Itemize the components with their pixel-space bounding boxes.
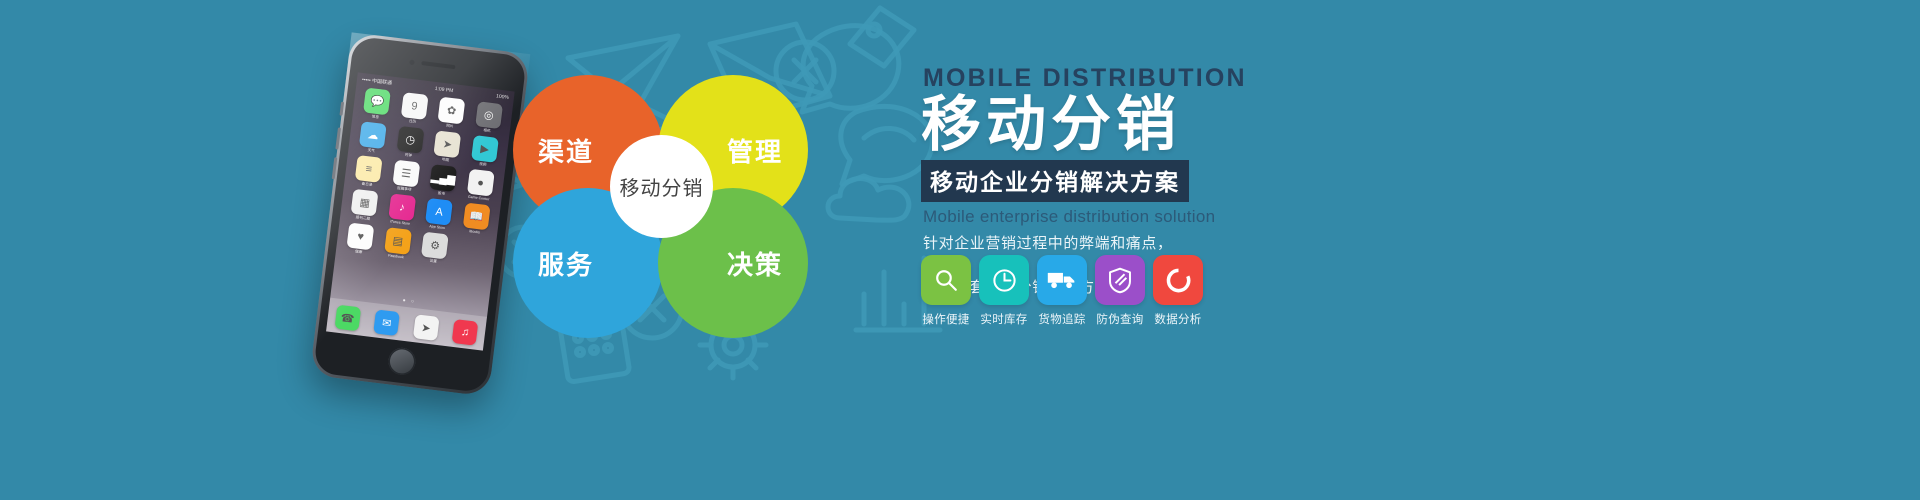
headline-subtitle-en: Mobile enterprise distribution solution bbox=[923, 207, 1481, 227]
phone-app-5[interactable]: ☁天气 bbox=[358, 121, 387, 158]
phone-app-11[interactable]: ▂▄▆股市 bbox=[428, 164, 457, 201]
phone-screen: ••••• 中国联通 1:09 PM 100% 💬信息9日历✿照片◎相机☁天气◷… bbox=[326, 72, 515, 350]
phone-app-icon: ✿ bbox=[438, 97, 466, 125]
phone-app-icon: ≡ bbox=[355, 155, 383, 183]
phone-app-15[interactable]: AApp Store bbox=[424, 198, 453, 235]
phone-app-9[interactable]: ≡备忘录 bbox=[354, 155, 383, 192]
phone-app-icon: ☰ bbox=[392, 160, 420, 188]
venn-label-decision: 决策 bbox=[727, 245, 783, 282]
feature-item-5[interactable]: 数据分析 bbox=[1153, 255, 1203, 327]
iphone-device: ••••• 中国联通 1:09 PM 100% 💬信息9日历✿照片◎相机☁天气◷… bbox=[310, 32, 531, 396]
feature-label: 数据分析 bbox=[1153, 311, 1203, 327]
phone-body: ••••• 中国联通 1:09 PM 100% 💬信息9日历✿照片◎相机☁天气◷… bbox=[310, 32, 531, 396]
phone-app-3[interactable]: ➤ bbox=[412, 314, 440, 341]
phone-app-icon: 9 bbox=[400, 92, 428, 120]
phone-app-icon: ▦ bbox=[351, 189, 379, 217]
phone-app-2[interactable]: 9日历 bbox=[399, 92, 428, 129]
status-time: 1:09 PM bbox=[434, 85, 453, 93]
phone-bezel: ••••• 中国联通 1:09 PM 100% 💬信息9日历✿照片◎相机☁天气◷… bbox=[313, 36, 527, 394]
phone-app-icon: ➤ bbox=[413, 314, 440, 341]
headline-ribbon: 移动企业分销解决方案 bbox=[921, 160, 1189, 202]
feature-label: 实时库存 bbox=[979, 311, 1029, 327]
search-icon bbox=[921, 255, 971, 305]
phone-app-icon: ✉ bbox=[373, 309, 400, 336]
phone-app-4[interactable]: ♫ bbox=[451, 319, 479, 346]
venn-center-circle[interactable]: 移动分销 bbox=[610, 135, 713, 238]
promo-banner: ••••• 中国联通 1:09 PM 100% 💬信息9日历✿照片◎相机☁天气◷… bbox=[0, 0, 1920, 500]
phone-app-icon: ● bbox=[467, 169, 495, 197]
feature-item-4[interactable]: 防伪查询 bbox=[1095, 255, 1145, 327]
venn-diagram: 渠道 管理 服务 决策 移动分销 bbox=[513, 75, 813, 340]
phone-app-icon: ▂▄▆ bbox=[429, 164, 457, 192]
phone-app-3[interactable]: ✿照片 bbox=[437, 97, 466, 134]
phone-app-icon: ♥ bbox=[347, 222, 375, 250]
phone-app-13[interactable]: ▦报刊二题 bbox=[350, 189, 379, 226]
phone-app-icon: ◷ bbox=[396, 126, 424, 154]
venn-label-service: 服务 bbox=[538, 245, 594, 282]
phone-app-icon: 📖 bbox=[463, 202, 491, 230]
page-title: 移动分销 bbox=[921, 95, 1481, 156]
feature-label: 操作便捷 bbox=[921, 311, 971, 327]
shield-icon bbox=[1095, 255, 1145, 305]
phone-app-icon: ➤ bbox=[434, 130, 462, 158]
phone-app-icon: ☁ bbox=[359, 121, 387, 149]
feature-icon-row: 操作便捷实时库存货物追踪防伪查询数据分析 bbox=[921, 255, 1203, 327]
phone-app-2[interactable]: ✉ bbox=[373, 309, 401, 336]
phone-app-18[interactable]: ▤Passbook bbox=[383, 227, 412, 264]
headline-eyebrow: MOBILE DISTRIBUTION bbox=[923, 66, 1481, 91]
phone-app-16[interactable]: 📖iBooks bbox=[461, 202, 490, 239]
phone-app-10[interactable]: ☰提醒事项 bbox=[391, 160, 420, 197]
status-battery: 100% bbox=[496, 93, 509, 101]
phone-app-icon: ▤ bbox=[384, 227, 412, 255]
phone-app-14[interactable]: ♪iTunes Store bbox=[387, 193, 416, 230]
venn-center-label: 移动分销 bbox=[620, 172, 704, 201]
clock-icon bbox=[979, 255, 1029, 305]
feature-label: 防伪查询 bbox=[1095, 311, 1145, 327]
phone-app-7[interactable]: ➤地图 bbox=[432, 130, 461, 167]
phone-app-icon: ♪ bbox=[388, 193, 416, 221]
feature-item-2[interactable]: 实时库存 bbox=[979, 255, 1029, 327]
phone-app-icon: 💬 bbox=[363, 88, 391, 116]
phone-speaker bbox=[421, 61, 455, 69]
venn-label-channel: 渠道 bbox=[538, 132, 594, 169]
phone-app-17[interactable]: ♥健康 bbox=[346, 222, 375, 259]
phone-app-icon: ◎ bbox=[475, 101, 503, 129]
phone-app-12[interactable]: ●Game Center bbox=[466, 169, 495, 206]
phone-app-19[interactable]: ⚙设置 bbox=[420, 232, 449, 269]
phone-app-8[interactable]: ▶视频 bbox=[470, 135, 499, 172]
phone-app-6[interactable]: ◷时钟 bbox=[395, 126, 424, 163]
phone-app-1[interactable]: 💬信息 bbox=[362, 88, 391, 125]
phone-app-grid: 💬信息9日历✿照片◎相机☁天气◷时钟➤地图▶视频≡备忘录☰提醒事项▂▄▆股市●G… bbox=[339, 87, 509, 274]
feature-label: 货物追踪 bbox=[1037, 311, 1087, 327]
phone-app-icon: A bbox=[425, 198, 453, 226]
status-carrier: ••••• 中国联通 bbox=[362, 76, 393, 87]
phone-app-icon: ♫ bbox=[452, 319, 479, 346]
phone-app-icon: ☎ bbox=[334, 305, 361, 332]
feature-item-1[interactable]: 操作便捷 bbox=[921, 255, 971, 327]
phone-app-icon: ▶ bbox=[471, 135, 499, 163]
feature-item-3[interactable]: 货物追踪 bbox=[1037, 255, 1087, 327]
truck-icon bbox=[1037, 255, 1087, 305]
refresh-icon bbox=[1153, 255, 1203, 305]
tag-doodle bbox=[838, 0, 922, 74]
phone-app-icon: ⚙ bbox=[421, 232, 449, 260]
cloud-doodle-2 bbox=[820, 166, 928, 232]
venn-label-management: 管理 bbox=[727, 132, 783, 169]
phone-app-4[interactable]: ◎相机 bbox=[474, 101, 503, 138]
phone-app-1[interactable]: ☎ bbox=[334, 305, 362, 332]
phone-home-button[interactable] bbox=[387, 346, 417, 376]
phone-front-camera bbox=[409, 60, 415, 66]
